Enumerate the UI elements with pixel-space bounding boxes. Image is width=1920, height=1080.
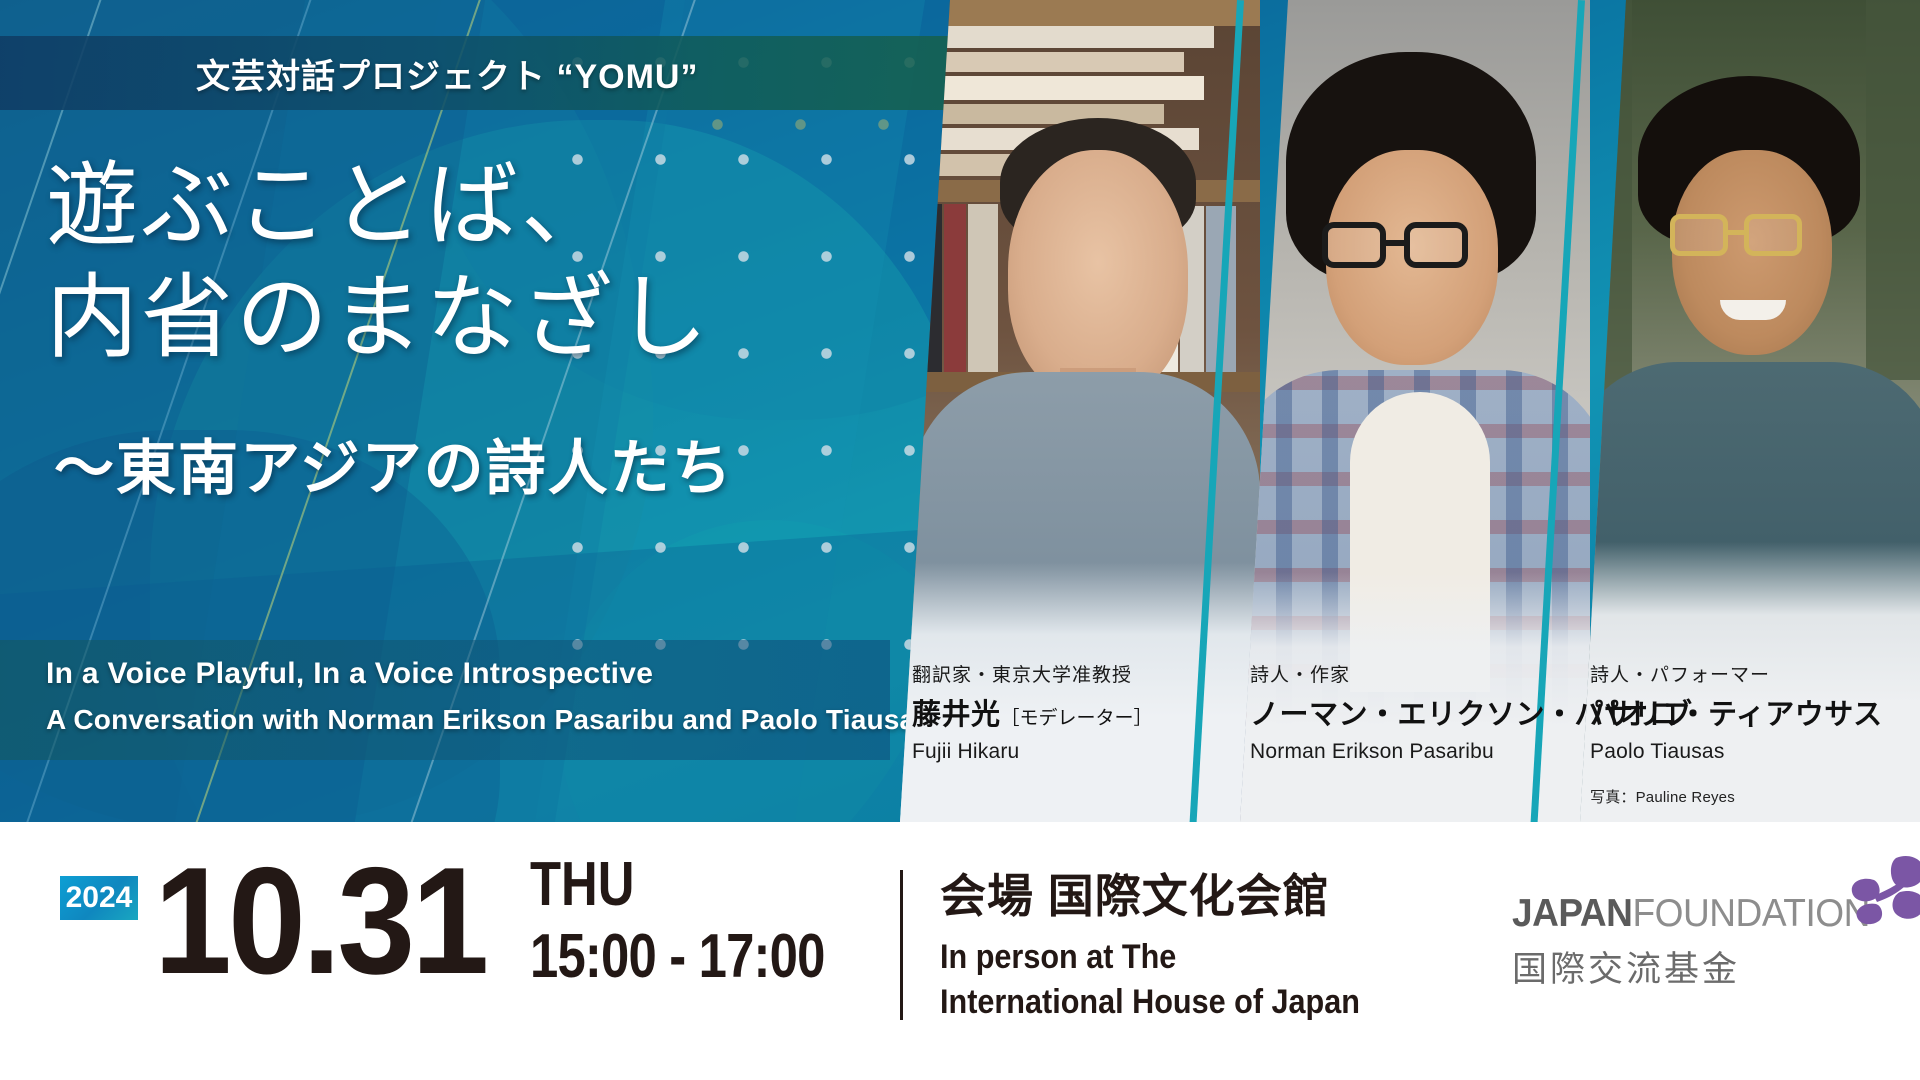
- speaker-name-en: Paolo Tiausas: [1590, 740, 1883, 764]
- speaker-name-en: Fujii Hikaru: [912, 740, 1153, 764]
- speaker-name-jp-text: パオロ・ティアウサス: [1590, 699, 1883, 731]
- speaker-caption-1: 翻訳家・東京大学准教授 藤井光［モデレーター］ Fujii Hikaru: [912, 660, 1153, 764]
- title-line-1: 遊ぶことば、: [46, 150, 926, 262]
- footer-divider: [900, 870, 903, 1020]
- speaker-name-jp: 藤井光［モデレーター］: [912, 691, 1153, 733]
- venue-name-jp: 会場 国際文化会館: [940, 860, 1407, 926]
- subtitle-english-line-1: In a Voice Playful, In a Voice Introspec…: [46, 657, 653, 691]
- speaker-role: 詩人・パフォーマー: [1590, 660, 1883, 687]
- speaker-role: 翻訳家・東京大学准教授: [912, 660, 1153, 687]
- subtitle-english-line-2: A Conversation with Norman Erikson Pasar…: [46, 704, 931, 736]
- subtitle-japanese: 〜東南アジアの詩人たち: [54, 420, 734, 507]
- title-line-2: 内省のまなざし: [46, 262, 926, 374]
- speaker-name-tag: ［モデレーター］: [1001, 708, 1153, 729]
- venue-name-en-line-1: In person at The: [940, 938, 1360, 977]
- photo-credit: 写真：Pauline Reyes: [1590, 786, 1883, 807]
- logo-jp-name: 国際交流基金: [1512, 941, 1889, 992]
- event-day-time: THU 15:00 - 17:00: [530, 856, 889, 988]
- speaker-name-jp-text: 藤井光: [912, 699, 1001, 731]
- butterfly-icon: [1844, 852, 1920, 937]
- speaker-name-jp: パオロ・ティアウサス: [1590, 691, 1883, 733]
- japan-foundation-logo: JAPANFOUNDATION 国際交流基金: [1512, 894, 1889, 992]
- event-time: 15:00 - 17:00: [530, 925, 825, 988]
- year-badge: 2024: [60, 876, 138, 920]
- hero-section: 文芸対話プロジェクト “YOMU” 遊ぶことば、 内省のまなざし 〜東南アジアの…: [0, 0, 1920, 822]
- project-label: 文芸対話プロジェクト “YOMU”: [196, 49, 698, 98]
- event-day-of-week: THU: [530, 856, 825, 915]
- logo-wordmark-bold: JAPAN: [1512, 892, 1632, 935]
- venue-name-en-line-2: International House of Japan: [940, 983, 1360, 1022]
- poster-title: 遊ぶことば、 内省のまなざし: [46, 150, 926, 374]
- event-poster: 文芸対話プロジェクト “YOMU” 遊ぶことば、 内省のまなざし 〜東南アジアの…: [0, 0, 1920, 1080]
- event-date: 10.31: [154, 852, 486, 992]
- speaker-caption-3: 詩人・パフォーマー パオロ・ティアウサス Paolo Tiausas 写真：Pa…: [1590, 660, 1883, 807]
- logo-wordmark-light: FOUNDATION: [1632, 892, 1869, 935]
- venue-block: 会場 国際文化会館 In person at The International…: [940, 860, 1407, 1022]
- english-subtitle-band: In a Voice Playful, In a Voice Introspec…: [0, 640, 890, 760]
- event-date-block: 2024 10.31 THU 15:00 - 17:00: [60, 852, 890, 992]
- footer-section: 2024 10.31 THU 15:00 - 17:00 会場 国際文化会館 I…: [0, 822, 1920, 1080]
- logo-wordmark: JAPANFOUNDATION: [1512, 894, 1870, 933]
